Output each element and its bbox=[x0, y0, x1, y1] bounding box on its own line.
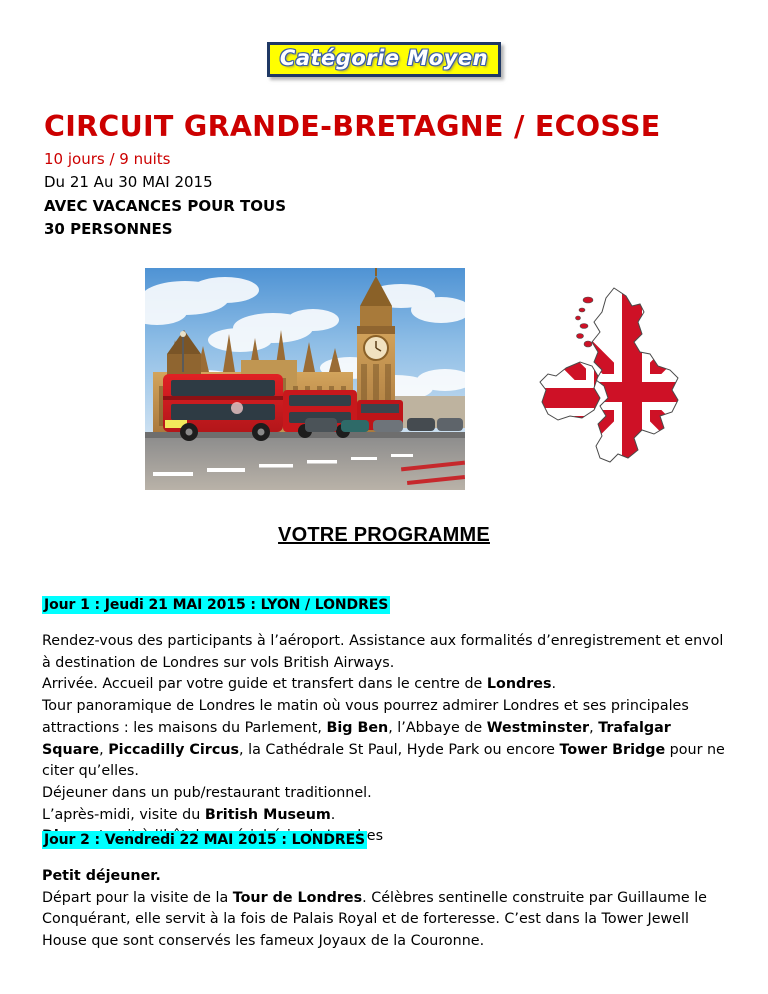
paragraph-line: Départ pour la visite de la Tour de Lond… bbox=[42, 888, 730, 953]
emphasis-text: British Museum bbox=[205, 807, 331, 823]
day-header-1: Jour 1 : Jeudi 21 MAI 2015 : LYON / LOND… bbox=[42, 594, 390, 613]
paragraph-line: Petit déjeuner. bbox=[42, 866, 730, 888]
body-text: Rendez-vous des participants à l’aéropor… bbox=[42, 633, 723, 671]
emphasis-text: Big Ben bbox=[326, 720, 388, 736]
category-banner-label: Catégorie Moyen bbox=[280, 46, 488, 70]
emphasis-text: Tour de Londres bbox=[233, 890, 362, 906]
body-text: , bbox=[99, 742, 108, 758]
day-header-2-label: Jour 2 : Vendredi 22 MAI 2015 : LONDRES bbox=[42, 831, 367, 849]
day-header-1-label: Jour 1 : Jeudi 21 MAI 2015 : LYON / LOND… bbox=[42, 596, 390, 614]
page-title: CIRCUIT GRANDE-BRETAGNE / ECOSSE bbox=[44, 110, 734, 143]
day-body-1: Rendez-vous des participants à l’aéropor… bbox=[42, 631, 730, 848]
programme-heading: VOTRE PROGRAMME bbox=[0, 524, 768, 547]
paragraph-line: Déjeuner dans un pub/restaurant traditio… bbox=[42, 783, 730, 805]
body-text: . bbox=[552, 676, 557, 692]
day-body-2: Petit déjeuner.Départ pour la visite de … bbox=[42, 866, 730, 953]
body-text: Arrivée. Accueil par votre guide et tran… bbox=[42, 676, 487, 692]
day-header-2: Jour 2 : Vendredi 22 MAI 2015 : LONDRES bbox=[42, 829, 367, 848]
paragraph-line: Rendez-vous des participants à l’aéropor… bbox=[42, 631, 730, 674]
emphasis-text: Londres bbox=[487, 676, 552, 692]
body-text: L’après-midi, visite du bbox=[42, 807, 205, 823]
emphasis-text: Petit déjeuner. bbox=[42, 868, 161, 884]
body-text: , la Cathédrale St Paul, Hyde Park ou en… bbox=[239, 742, 559, 758]
trip-dates: Du 21 Au 30 MAI 2015 bbox=[44, 172, 734, 192]
paragraph-line: L’après-midi, visite du British Museum. bbox=[42, 805, 730, 827]
trip-group-size: 30 PERSONNES bbox=[44, 219, 734, 239]
body-text: Départ pour la visite de la bbox=[42, 890, 233, 906]
paragraph-line: Arrivée. Accueil par votre guide et tran… bbox=[42, 674, 730, 696]
body-text: . bbox=[331, 807, 336, 823]
body-text: , l’Abbaye de bbox=[388, 720, 487, 736]
emphasis-text: Westminster bbox=[487, 720, 589, 736]
trip-operator: AVEC VACANCES POUR TOUS bbox=[44, 196, 734, 216]
uk-union-jack-map bbox=[522, 282, 700, 487]
category-banner: Catégorie Moyen bbox=[267, 42, 501, 77]
category-banner-container: Catégorie Moyen bbox=[0, 42, 768, 77]
body-text: , bbox=[589, 720, 598, 736]
body-text: Déjeuner dans un pub/restaurant traditio… bbox=[42, 785, 372, 801]
paragraph-line: Tour panoramique de Londres le matin où … bbox=[42, 696, 730, 783]
london-big-ben-red-bus-photo bbox=[145, 268, 465, 490]
trip-duration: 10 jours / 9 nuits bbox=[44, 149, 734, 169]
title-block: CIRCUIT GRANDE-BRETAGNE / ECOSSE 10 jour… bbox=[44, 110, 734, 242]
emphasis-text: Tower Bridge bbox=[560, 742, 666, 758]
emphasis-text: Piccadilly Circus bbox=[108, 742, 239, 758]
programme-heading-label: VOTRE PROGRAMME bbox=[278, 524, 490, 546]
